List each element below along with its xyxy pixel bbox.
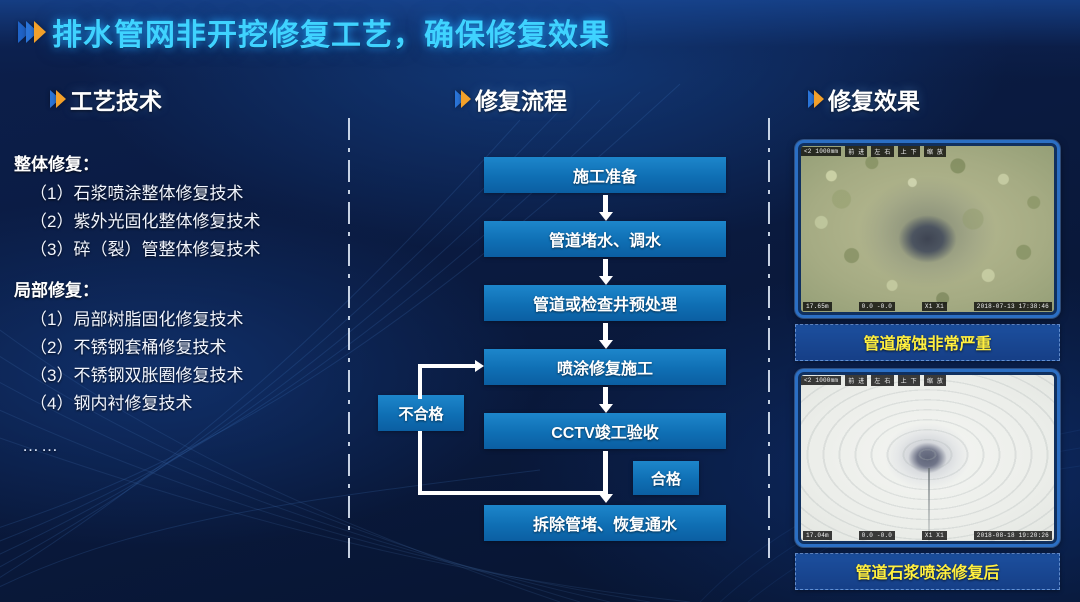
- flow-step-construction-prep[interactable]: 施工准备: [484, 157, 726, 193]
- flow-step-plug-divert-water[interactable]: 管道堵水、调水: [484, 221, 726, 257]
- list-item: （3）碎（裂）管整体修复技术: [30, 235, 342, 260]
- section-chevrons-icon: [455, 90, 467, 108]
- slide-title-row: 排水管网非开挖修复工艺，确保修复效果: [18, 10, 610, 54]
- cctv-overlay-distance: 17.04m: [803, 531, 832, 540]
- flow-step-spray-repair-construction[interactable]: 喷涂修复施工: [484, 349, 726, 385]
- cctv-overlay-top: <2 1000mm 前 进 左 右 上 下 缩 放: [801, 375, 1054, 386]
- pipe-corrosion-texture: [801, 146, 1054, 312]
- cctv-overlay-leftright: 左 右: [871, 146, 893, 157]
- column-header-label: 工艺技术: [70, 82, 162, 116]
- cctv-overlay-timestamp: 2018-08-18 19:20:26: [974, 531, 1052, 540]
- column-header-label: 修复流程: [475, 82, 567, 116]
- cctv-overlay-bottom: 17.04m 0.0 -0.0 X1 X1 2018-08-18 19:20:2…: [801, 530, 1054, 541]
- column-header-repair-flow: 修复流程: [455, 82, 567, 116]
- flow-arrow-down: [600, 259, 611, 285]
- column-header-repair-effect: 修复效果: [808, 82, 920, 116]
- cctv-overlay-top: <2 1000mm 前 进 左 右 上 下 缩 放: [801, 146, 1054, 157]
- list-item: （2）不锈钢套桶修复技术: [30, 333, 342, 358]
- cctv-overlay-leftright: 左 右: [871, 375, 893, 386]
- repair-flowchart: 施工准备 管道堵水、调水 管道或检查井预处理 喷涂修复施工 CCTV竣工验收 合…: [370, 150, 770, 570]
- section-chevrons-icon: [50, 90, 62, 108]
- cctv-overlay-updown: 上 下: [898, 375, 920, 386]
- flow-step-pipe-manhole-pretreatment[interactable]: 管道或检查井预处理: [484, 285, 726, 321]
- flow-branch-fail-label[interactable]: 不合格: [378, 395, 464, 431]
- loop-arrowhead-icon: [475, 360, 484, 372]
- cctv-overlay-forward: 前 进: [845, 375, 867, 386]
- flow-step-remove-plug-restore-flow[interactable]: 拆除管堵、恢复通水: [484, 505, 726, 541]
- cctv-overlay-forward: 前 进: [845, 146, 867, 157]
- cctv-overlay-updown: 上 下: [898, 146, 920, 157]
- divider-left-middle: [348, 118, 350, 558]
- cctv-overlay-tilt: 0.0 -0.0: [859, 302, 895, 311]
- loop-line-top: [418, 364, 478, 368]
- section-chevrons-icon: [808, 90, 820, 108]
- loop-line-down: [418, 431, 422, 495]
- list-item: （2）紫外光固化整体修复技术: [30, 207, 342, 232]
- list-item: （1）局部树脂固化修复技术: [30, 305, 342, 330]
- flow-arrow-down: [600, 323, 611, 349]
- list-item: （3）不锈钢双胀圈修复技术: [30, 361, 342, 386]
- page-title: 排水管网非开挖修复工艺，确保修复效果: [52, 10, 610, 54]
- photo-corroded-pipe[interactable]: <2 1000mm 前 进 左 右 上 下 缩 放 17.65m 0.0 -0.…: [795, 140, 1060, 318]
- list-item: （1）石浆喷涂整体修复技术: [30, 179, 342, 204]
- loop-line-right: [418, 491, 604, 495]
- flow-arrow-down-pass: [600, 451, 611, 503]
- cctv-frame-repaired: <2 1000mm 前 进 左 右 上 下 缩 放 17.04m 0.0 -0.…: [801, 375, 1054, 541]
- cctv-overlay-magnification: X1 X1: [922, 531, 947, 540]
- column-header-label: 修复效果: [828, 82, 920, 116]
- flow-arrow-down: [600, 387, 611, 413]
- cctv-overlay-diameter: <2 1000mm: [801, 147, 841, 156]
- cctv-overlay-diameter: <2 1000mm: [801, 376, 841, 385]
- list-ellipsis: ……: [22, 436, 342, 456]
- cctv-overlay-zoom: 缩 放: [924, 146, 946, 157]
- cctv-overlay-zoom: 缩 放: [924, 375, 946, 386]
- list-group-title-overall: 整体修复：: [14, 150, 342, 175]
- photo-repaired-pipe[interactable]: <2 1000mm 前 进 左 右 上 下 缩 放 17.04m 0.0 -0.…: [795, 369, 1060, 547]
- cctv-frame-corroded: <2 1000mm 前 进 左 右 上 下 缩 放 17.65m 0.0 -0.…: [801, 146, 1054, 312]
- cctv-overlay-timestamp: 2018-07-13 17:38:46: [974, 302, 1052, 311]
- flow-branch-pass-label[interactable]: 合格: [633, 461, 699, 495]
- flow-step-cctv-acceptance[interactable]: CCTV竣工验收: [484, 413, 726, 449]
- repair-effect-photos: <2 1000mm 前 进 左 右 上 下 缩 放 17.65m 0.0 -0.…: [795, 140, 1070, 590]
- column-header-process-tech: 工艺技术: [50, 82, 162, 116]
- process-tech-list: 整体修复： （1）石浆喷涂整体修复技术 （2）紫外光固化整体修复技术 （3）碎（…: [12, 150, 342, 456]
- loop-line-up: [418, 364, 422, 399]
- photo-caption-repaired: 管道石浆喷涂修复后: [795, 553, 1060, 590]
- title-chevrons-icon: [18, 21, 42, 43]
- photo-caption-corroded: 管道腐蚀非常严重: [795, 324, 1060, 361]
- cctv-overlay-tilt: 0.0 -0.0: [859, 531, 895, 540]
- cctv-overlay-bottom: 17.65m 0.0 -0.0 X1 X1 2018-07-13 17:38:4…: [801, 301, 1054, 312]
- cctv-overlay-distance: 17.65m: [803, 302, 832, 311]
- list-group-title-local: 局部修复：: [14, 276, 342, 301]
- list-spacer: [12, 263, 342, 276]
- list-item: （4）钢内衬修复技术: [30, 389, 342, 414]
- cctv-overlay-magnification: X1 X1: [922, 302, 947, 311]
- flow-arrow-down: [600, 195, 611, 221]
